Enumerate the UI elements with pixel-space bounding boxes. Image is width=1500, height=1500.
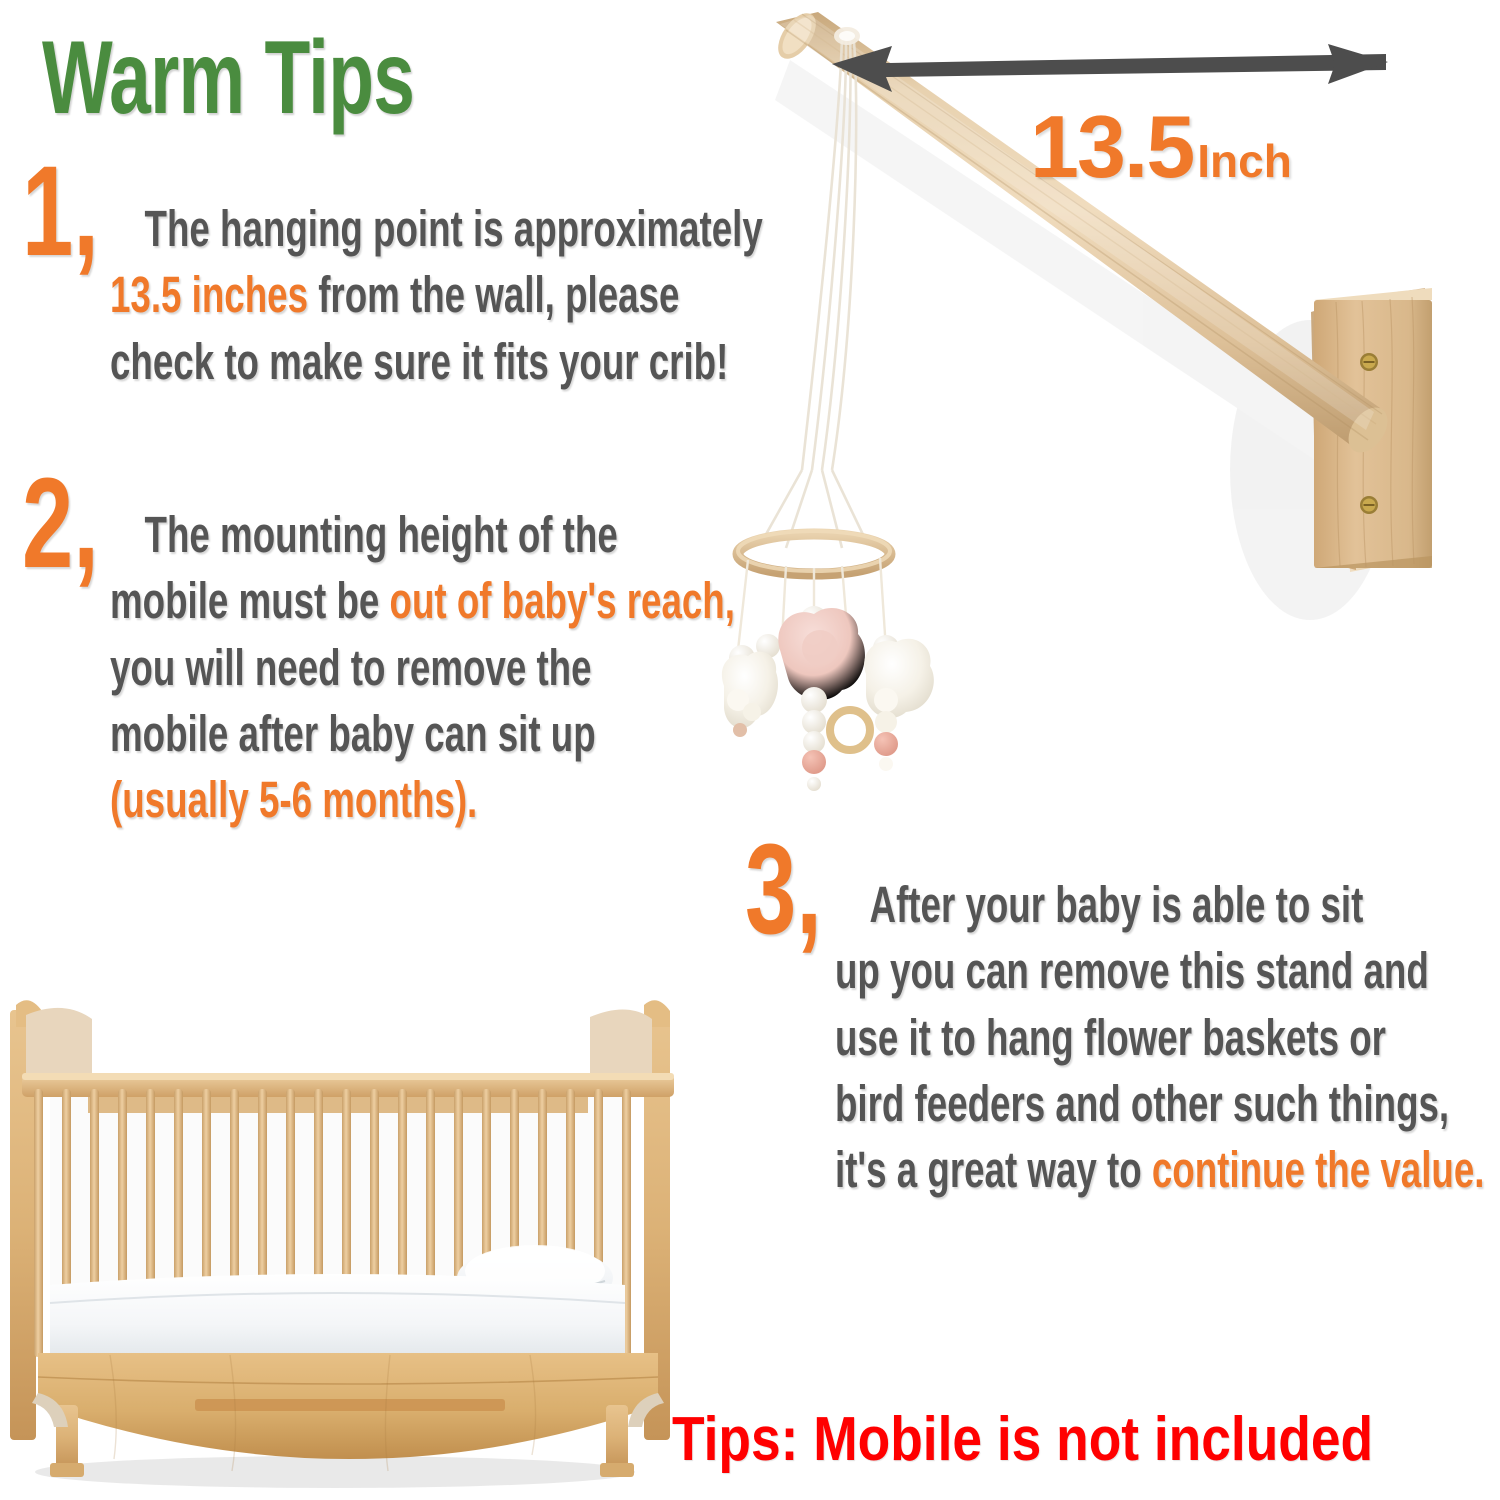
dimension-value: 13.5 bbox=[1030, 97, 1193, 196]
tip-3-line-5: it's a great way to continue the value. bbox=[835, 1137, 1484, 1203]
tip-1-line-2: 13.5 inches from the wall, please bbox=[110, 262, 763, 328]
ornament-center-pink-cloud bbox=[778, 608, 870, 791]
ornament-right-white-cloud bbox=[864, 635, 934, 771]
body-text: check to make sure it fits your crib! bbox=[110, 333, 728, 390]
tip-1-number: 1, bbox=[22, 148, 99, 276]
body-text: The hanging point is approximately bbox=[145, 200, 763, 257]
tip-1-body: The hanging point is approximately13.5 i… bbox=[110, 196, 763, 395]
tip-3-line-4: bird feeders and other such things, bbox=[835, 1071, 1484, 1137]
crib-headboard-right bbox=[590, 1009, 652, 1079]
body-text: use it to hang flower baskets or bbox=[835, 1009, 1386, 1066]
accent-text: out of baby's reach, bbox=[390, 572, 735, 629]
body-text: from the wall, please bbox=[308, 266, 679, 323]
crib-photo bbox=[0, 985, 710, 1500]
infographic-page: 13.5Inch Warm Tips 1, The hanging point … bbox=[0, 0, 1500, 1500]
felt-cloud-ornaments bbox=[722, 606, 934, 791]
accent-text: (usually 5-6 months). bbox=[110, 771, 477, 828]
dimension-label: 13.5Inch bbox=[1030, 96, 1292, 198]
page-title: Warm Tips bbox=[42, 26, 414, 130]
body-text: After your baby is able to sit bbox=[870, 876, 1364, 933]
tip-2-line-2: mobile must be out of baby's reach, bbox=[110, 568, 735, 634]
crib-illustration bbox=[0, 985, 710, 1500]
body-text: it's a great way to bbox=[835, 1141, 1152, 1198]
tip-2-line-4: mobile after baby can sit up bbox=[110, 701, 735, 767]
notice-mobile-not-included: Tips: Mobile is not included bbox=[672, 1404, 1373, 1475]
crib-drawer-handle bbox=[195, 1399, 505, 1411]
dimension-unit: Inch bbox=[1197, 135, 1292, 187]
tip-1-line-3: check to make sure it fits your crib! bbox=[110, 329, 763, 395]
floor-shadow bbox=[35, 1456, 635, 1488]
tip-2-number: 2, bbox=[22, 460, 99, 588]
tip-3-line-1: After your baby is able to sit bbox=[835, 872, 1484, 938]
tip-3-line-2: up you can remove this stand and bbox=[835, 938, 1484, 1004]
wooden-teething-ring bbox=[830, 710, 870, 750]
crib-top-rail-highlight bbox=[22, 1073, 674, 1080]
body-text: up you can remove this stand and bbox=[835, 942, 1429, 999]
tip-2-line-1: The mounting height of the bbox=[110, 502, 735, 568]
tip-2-line-5: (usually 5-6 months). bbox=[110, 767, 735, 833]
accent-text: 13.5 inches bbox=[110, 266, 308, 323]
tip-2-body: The mounting height of themobile must be… bbox=[110, 502, 735, 833]
tip-3-number: 3, bbox=[745, 826, 822, 954]
wooden-mobile-ring bbox=[738, 531, 890, 574]
body-text: mobile must be bbox=[110, 572, 390, 629]
tip-3-line-3: use it to hang flower baskets or bbox=[835, 1005, 1484, 1071]
body-text: The mounting height of the bbox=[145, 506, 618, 563]
body-text: mobile after baby can sit up bbox=[110, 705, 596, 762]
accent-text: continue the value. bbox=[1152, 1141, 1485, 1198]
crib-front-panel bbox=[38, 1353, 658, 1471]
crib-mattress bbox=[50, 1274, 625, 1365]
tip-2-line-3: you will need to remove the bbox=[110, 635, 735, 701]
tip-1-line-1: The hanging point is approximately bbox=[110, 196, 763, 262]
tip-3-body: After your baby is able to situp you can… bbox=[835, 872, 1484, 1203]
body-text: you will need to remove the bbox=[110, 639, 592, 696]
body-text: bird feeders and other such things, bbox=[835, 1075, 1449, 1132]
crib-headboard-left bbox=[26, 1008, 92, 1081]
